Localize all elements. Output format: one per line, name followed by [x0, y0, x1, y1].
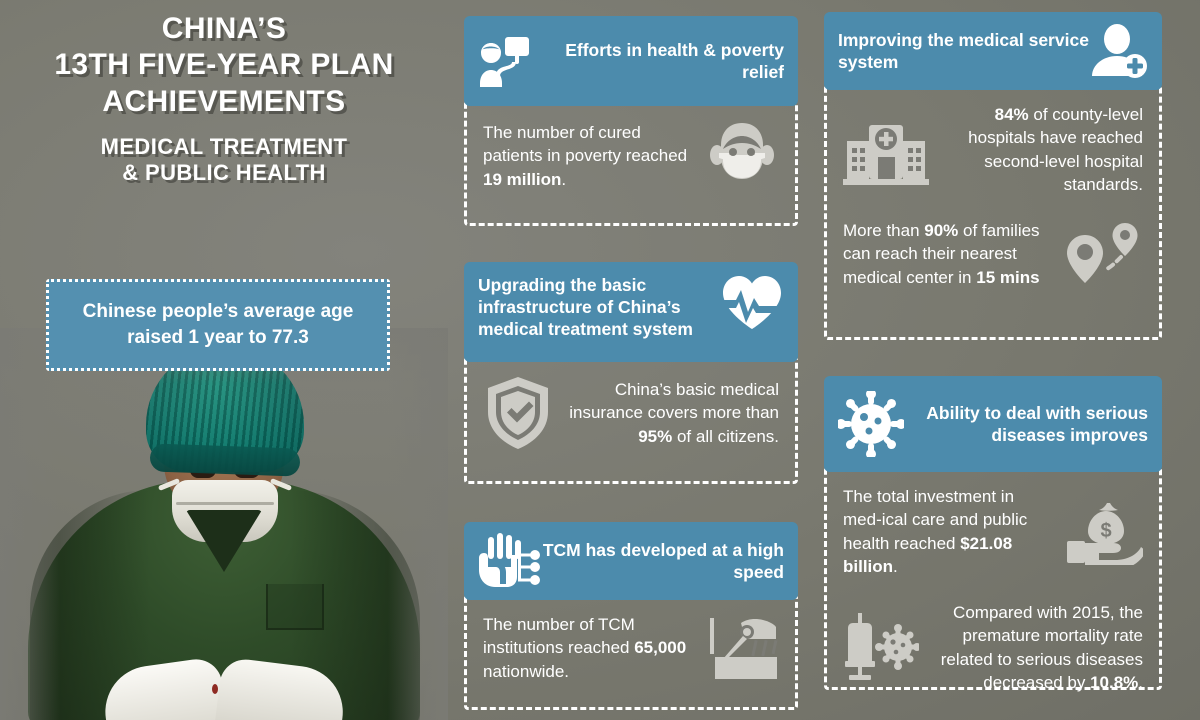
- left-panel: CHINA’S 13TH FIVE-YEAR PLAN ACHIEVEMENTS…: [0, 0, 448, 720]
- card-header: TCM has developed at a high speed: [464, 522, 798, 600]
- fact-row: The number of TCM institutions reached 6…: [483, 613, 779, 683]
- card-tcm-development: TCM has developed at a high speed The nu…: [464, 522, 798, 710]
- patient-iv-drip-icon: [478, 33, 536, 89]
- card-header: Efforts in health & poverty relief: [464, 16, 798, 106]
- fact-text: 84% of county-level hospitals have reach…: [941, 103, 1143, 197]
- card-header: Improving the medical service system: [824, 12, 1162, 90]
- hand-circuit-icon: [478, 533, 542, 589]
- card-efforts-in-health-poverty-relief: Efforts in health & poverty relief The n…: [464, 16, 798, 226]
- fact-text: The number of TCM institutions reached 6…: [483, 613, 695, 683]
- page-title-line-2: 13TH FIVE-YEAR PLAN: [0, 48, 448, 82]
- shield-check-icon: [483, 375, 553, 451]
- hospital-building-icon: [843, 115, 929, 185]
- svg-text:$: $: [1100, 520, 1111, 542]
- highlight-stat-text: Chinese people’s average age raised 1 ye…: [49, 299, 387, 350]
- card-title: TCM has developed at a high speed: [542, 539, 784, 583]
- page-subtitle-line-2: & PUBLIC HEALTH: [0, 161, 448, 186]
- card-title: Efforts in health & poverty relief: [536, 39, 784, 83]
- acupuncture-icon: [707, 615, 779, 681]
- fact-row: The total investment in med-ical care an…: [843, 485, 1143, 579]
- page-title-line-3: ACHIEVEMENTS: [0, 85, 448, 119]
- page-title-line-1: CHINA’S: [0, 12, 448, 46]
- masked-face-icon: [705, 119, 779, 193]
- card-body: 84% of county-level hospitals have reach…: [824, 84, 1162, 340]
- fact-text: Compared with 2015, the premature mortal…: [931, 601, 1143, 695]
- card-body: China’s basic medical insurance covers m…: [464, 356, 798, 484]
- card-body: The number of TCM institutions reached 6…: [464, 594, 798, 710]
- fact-text: More than 90% of families can reach thei…: [843, 219, 1051, 289]
- fact-row: The number of cured patients in poverty …: [483, 119, 779, 193]
- doctor-person-plus-icon: [1090, 23, 1148, 79]
- fact-row: Compared with 2015, the premature mortal…: [843, 601, 1143, 695]
- virus-icon: [838, 391, 904, 457]
- money-bag-hand-icon: $: [1067, 499, 1143, 565]
- card-title: Improving the medical service system: [838, 29, 1090, 73]
- card-body: The total investment in med-ical care an…: [824, 466, 1162, 690]
- highlight-stat-box: Chinese people’s average age raised 1 ye…: [46, 279, 390, 371]
- map-pins-route-icon: [1063, 221, 1143, 287]
- fact-row: More than 90% of families can reach thei…: [843, 219, 1143, 289]
- card-improving-medical-service-system: Improving the medical service system: [824, 12, 1162, 340]
- card-header: Ability to deal with serious diseases im…: [824, 376, 1162, 472]
- page-subtitle-line-1: MEDICAL TREATMENT: [0, 135, 448, 160]
- card-body: The number of cured patients in poverty …: [464, 100, 798, 226]
- fact-row: 84% of county-level hospitals have reach…: [843, 103, 1143, 197]
- infographic-page: CHINA’S 13TH FIVE-YEAR PLAN ACHIEVEMENTS…: [0, 0, 1200, 720]
- card-ability-serious-diseases: Ability to deal with serious diseases im…: [824, 376, 1162, 690]
- card-header: Upgrading the basic infrastructure of Ch…: [464, 262, 798, 362]
- fact-text: The total investment in med-ical care an…: [843, 485, 1055, 579]
- card-upgrading-basic-infrastructure: Upgrading the basic infrastructure of Ch…: [464, 262, 798, 484]
- card-title: Ability to deal with serious diseases im…: [904, 402, 1148, 446]
- syringe-virus-icon: [843, 613, 919, 683]
- card-title: Upgrading the basic infrastructure of Ch…: [478, 274, 720, 340]
- fact-row: China’s basic medical insurance covers m…: [483, 375, 779, 451]
- title-block: CHINA’S 13TH FIVE-YEAR PLAN ACHIEVEMENTS…: [0, 12, 448, 185]
- heart-pulse-icon: [720, 274, 784, 332]
- surgeon-photo: [0, 328, 448, 720]
- fact-text: China’s basic medical insurance covers m…: [565, 378, 779, 448]
- fact-text: The number of cured patients in poverty …: [483, 121, 693, 191]
